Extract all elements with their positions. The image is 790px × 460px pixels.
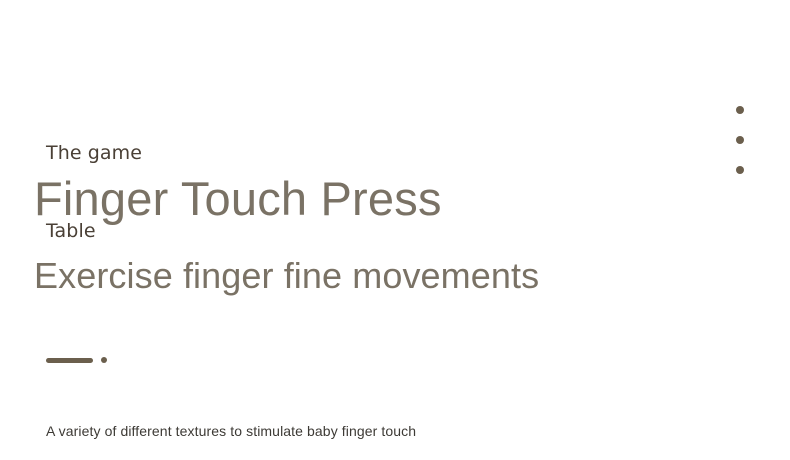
kicker-line-1: The game <box>46 140 142 166</box>
page-title: Finger Touch Press <box>34 172 442 226</box>
nav-dot-3-icon[interactable] <box>736 166 744 174</box>
nav-dot-1-icon[interactable] <box>736 106 744 114</box>
divider-bar-icon <box>46 358 93 363</box>
slide-nav-dots[interactable] <box>736 106 744 174</box>
caption-text: A variety of different textures to stimu… <box>46 421 416 441</box>
nav-dot-2-icon[interactable] <box>736 136 744 144</box>
slide-canvas: The game Table Finger Touch Press Exerci… <box>0 0 790 460</box>
divider <box>46 357 107 363</box>
divider-dot-icon <box>101 357 107 363</box>
page-subtitle: Exercise finger fine movements <box>34 254 539 298</box>
